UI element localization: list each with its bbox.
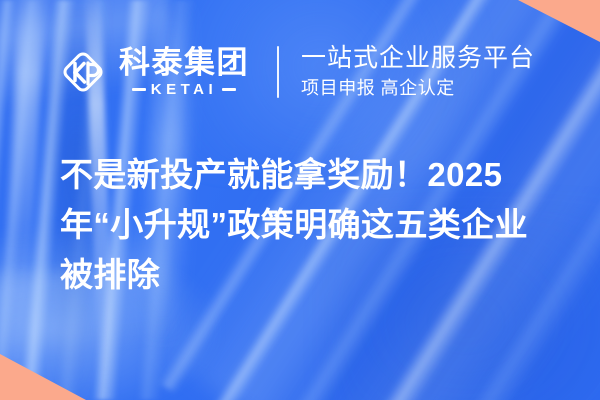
brand-name-en: KETAI [151, 82, 217, 97]
promo-banner: 科泰集团 KETAI 一站式企业服务平台 项目申报 高企认定 不是新投产就能拿奖… [0, 0, 600, 400]
brand-name-cn: 科泰集团 [119, 47, 249, 79]
banner-header: 科泰集团 KETAI 一站式企业服务平台 项目申报 高企认定 [58, 44, 535, 100]
headline-text: 不是新投产就能拿奖励！2025年“小升规”政策明确这五类企业被排除 [60, 150, 552, 300]
ketai-diamond-kd-monogram-icon [58, 47, 108, 97]
tagline-block: 一站式企业服务平台 项目申报 高企认定 [301, 44, 535, 100]
tagline-primary: 一站式企业服务平台 [301, 44, 535, 74]
brand-wordmark: 科泰集团 KETAI [119, 47, 249, 96]
brand-dash-right [222, 88, 236, 91]
header-divider [277, 46, 279, 98]
brand-name-en-row: KETAI [132, 82, 236, 97]
tagline-secondary: 项目申报 高企认定 [301, 76, 535, 100]
brand-dash-left [132, 88, 146, 91]
brand-lockup: 科泰集团 KETAI [58, 47, 249, 97]
